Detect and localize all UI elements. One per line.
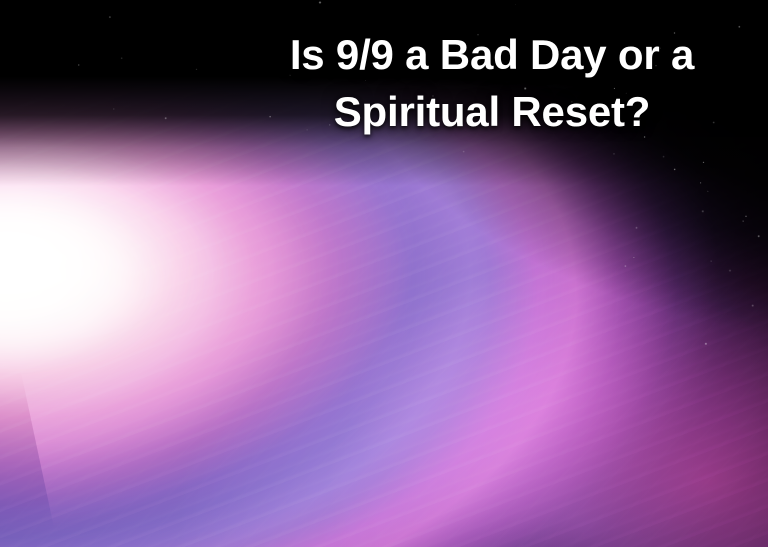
galaxy-poster: Is 9/9 a Bad Day or a Spiritual Reset? [0, 0, 768, 547]
page-title: Is 9/9 a Bad Day or a Spiritual Reset? [236, 26, 748, 140]
